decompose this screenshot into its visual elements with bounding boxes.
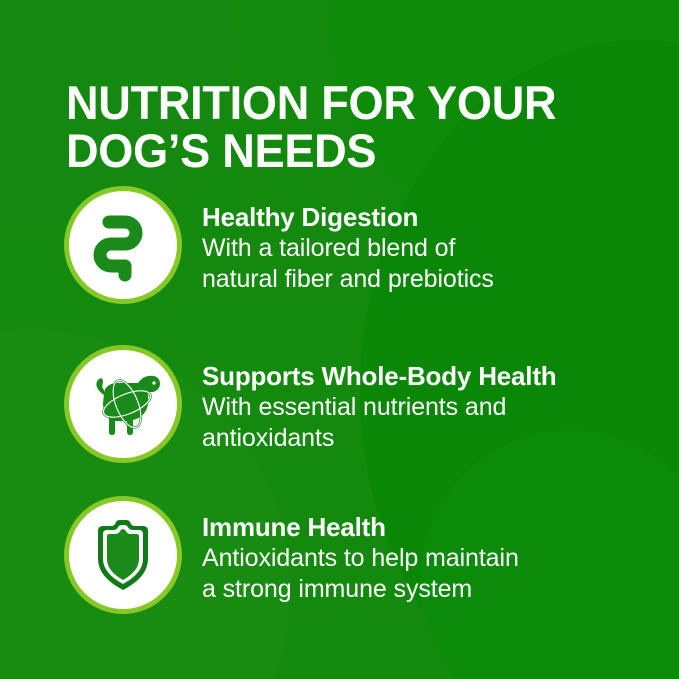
intestine-icon bbox=[85, 207, 161, 283]
benefit-text-immune-health: Immune Health Antioxidants to help maint… bbox=[202, 496, 679, 604]
dog-atom-icon-badge bbox=[64, 345, 182, 463]
page-title-line-1: NUTRITION FOR YOUR bbox=[66, 76, 556, 129]
benefit-description-line-2: antioxidants bbox=[202, 424, 334, 452]
benefit-description-line-1: With essential nutrients and bbox=[202, 393, 506, 421]
shield-icon-badge bbox=[64, 496, 182, 614]
benefit-description: Antioxidants to help maintain a strong i… bbox=[202, 543, 679, 604]
benefit-text-whole-body-health: Supports Whole-Body Health With essentia… bbox=[202, 345, 679, 453]
benefit-description-line-2: natural fiber and prebiotics bbox=[202, 265, 494, 293]
benefit-item-healthy-digestion: Healthy Digestion With a tailored blend … bbox=[0, 186, 679, 304]
benefit-title: Healthy Digestion bbox=[202, 202, 679, 232]
benefit-item-immune-health: Immune Health Antioxidants to help maint… bbox=[0, 496, 679, 614]
benefit-description-line-1: With a tailored blend of bbox=[202, 234, 455, 262]
benefit-title: Immune Health bbox=[202, 512, 679, 542]
benefit-title: Supports Whole-Body Health bbox=[202, 361, 679, 391]
dog-atom-icon bbox=[82, 368, 164, 440]
benefit-text-healthy-digestion: Healthy Digestion With a tailored blend … bbox=[202, 186, 679, 294]
intestine-icon-badge bbox=[64, 186, 182, 304]
page-title-line-2: DOG’S NEEDS bbox=[66, 124, 376, 177]
benefit-description: With essential nutrients and antioxidant… bbox=[202, 392, 679, 453]
nutrition-benefits-infographic: NUTRITION FOR YOUR DOG’S NEEDS Healthy D… bbox=[0, 0, 679, 679]
benefit-description-line-2: a strong immune system bbox=[202, 575, 472, 603]
benefit-item-whole-body-health: Supports Whole-Body Health With essentia… bbox=[0, 345, 679, 463]
page-title: NUTRITION FOR YOUR DOG’S NEEDS bbox=[66, 79, 604, 175]
shield-icon bbox=[86, 515, 160, 595]
benefit-description: With a tailored blend of natural fiber a… bbox=[202, 233, 679, 294]
benefit-description-line-1: Antioxidants to help maintain bbox=[202, 544, 519, 572]
